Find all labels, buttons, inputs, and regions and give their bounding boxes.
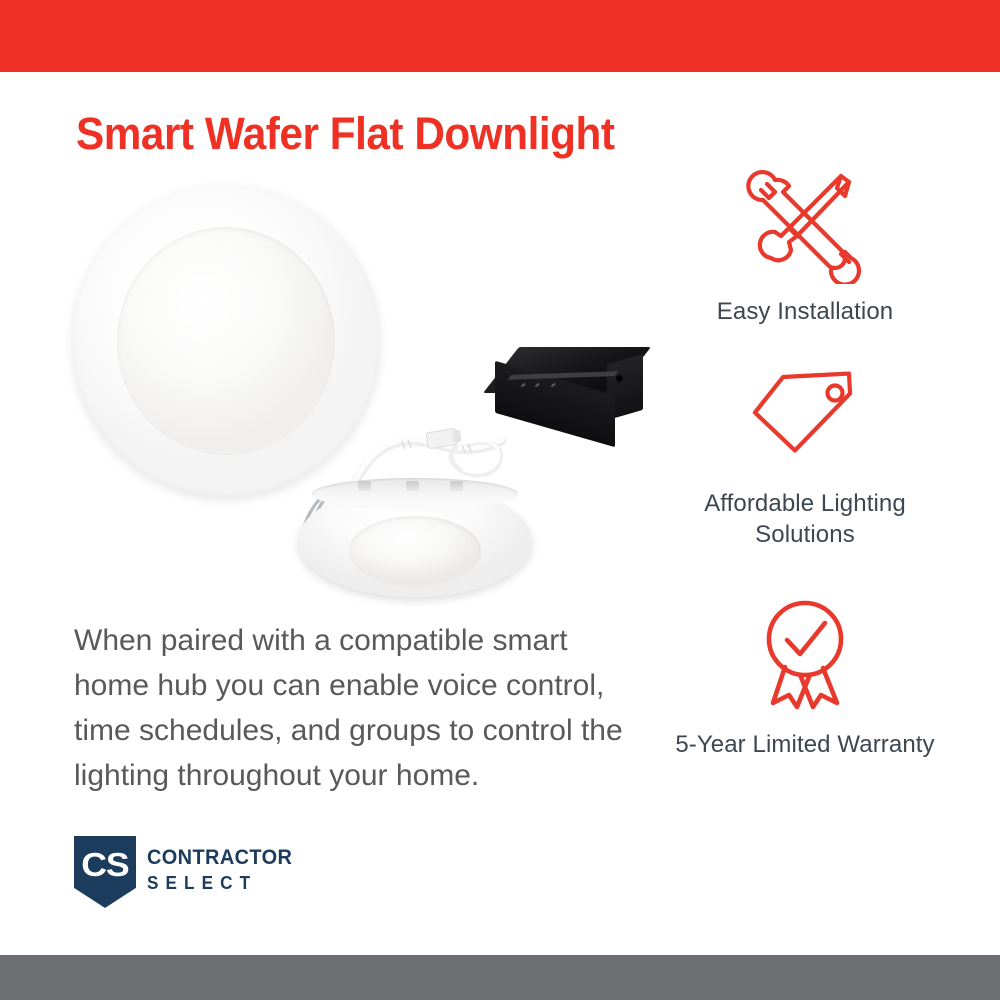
feature-label: 5-Year Limited Warranty (660, 729, 950, 760)
feature-label: Affordable Lighting Solutions (660, 488, 950, 550)
description-paragraph: When paired with a compatible smart home… (74, 618, 634, 798)
bottom-gray-banner (0, 955, 1000, 1000)
page-title: Smart Wafer Flat Downlight (76, 108, 614, 160)
award-ribbon-check-icon (745, 595, 865, 717)
downlight-lens (349, 516, 480, 586)
feature-warranty: 5-Year Limited Warranty (660, 595, 950, 760)
downlight-hardware-center (406, 481, 419, 491)
product-spec-sheet: Smart Wafer Flat Downlight (0, 0, 1000, 1000)
logo-wordmark: CONTRACTOR SELECT (147, 846, 300, 894)
logo-wordmark-line2: SELECT (147, 873, 292, 894)
downlight-assembly-image (290, 345, 670, 610)
price-tag-icon (745, 366, 865, 476)
wrench-screwdriver-icon (745, 166, 865, 284)
contractor-select-logo: CS CONTRACTOR SELECT (74, 836, 284, 908)
top-red-banner (0, 0, 1000, 72)
angled-wafer-downlight-image (298, 485, 532, 605)
logo-wordmark-line1: CONTRACTOR (147, 846, 292, 870)
downlight-hardware-left (358, 481, 371, 491)
feature-affordable-lighting: Affordable Lighting Solutions (660, 366, 950, 550)
shield-icon: CS (74, 836, 136, 908)
downlight-hardware-right (450, 481, 463, 491)
logo-badge-text: CS (81, 846, 128, 884)
feature-easy-installation: Easy Installation (660, 166, 950, 327)
feature-label: Easy Installation (660, 296, 950, 327)
product-image-area (0, 160, 660, 620)
